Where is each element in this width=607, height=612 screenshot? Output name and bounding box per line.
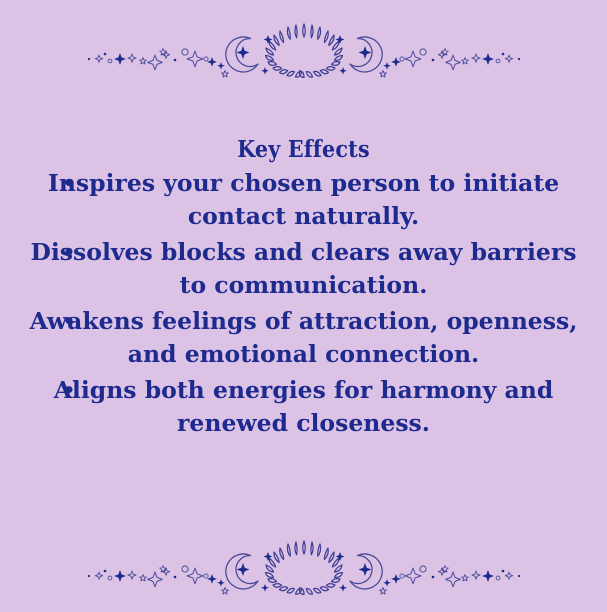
crescent-moon-icon-left — [226, 554, 258, 589]
four-point-sparkle — [383, 62, 391, 70]
four-point-sparkle — [405, 568, 421, 584]
four-point-sparkle — [114, 570, 126, 582]
circle-outline — [204, 574, 208, 578]
dot — [518, 575, 520, 577]
five-point-star — [140, 58, 147, 65]
four-point-sparkle — [237, 46, 250, 59]
list-item-label: Dissolves blocks and clears away barrier… — [24, 236, 583, 302]
five-point-star — [462, 58, 469, 65]
four-point-sparkle — [187, 51, 203, 67]
dot — [502, 570, 505, 573]
page-title: Key Effects — [0, 135, 607, 165]
circle-outline — [204, 57, 208, 61]
four-point-sparkle — [128, 54, 136, 62]
four-point-sparkle — [446, 572, 461, 587]
four-point-sparkle — [391, 574, 401, 584]
list-item-label: Aligns both energies for harmony and ren… — [24, 374, 583, 440]
circle-outline — [496, 576, 500, 580]
five-point-star — [462, 575, 469, 582]
list-item: • Aligns both energies for harmony and r… — [0, 374, 607, 440]
four-point-sparkle — [482, 53, 494, 65]
four-point-sparkle — [162, 51, 169, 58]
crescent-moon-icon-right — [350, 554, 382, 589]
poster-canvas: Key Effects • Inspires your chosen perso… — [0, 0, 607, 612]
four-point-sparkle — [446, 55, 461, 70]
list-item: • Dissolves blocks and clears away barri… — [0, 236, 607, 302]
bullet-glyph: • — [62, 305, 76, 338]
four-point-sparkle — [438, 51, 445, 58]
sun-icon — [266, 541, 343, 595]
four-point-sparkle — [359, 563, 372, 576]
four-point-sparkle — [207, 57, 217, 67]
dot — [104, 570, 107, 573]
five-point-star — [160, 566, 167, 573]
circle-outline — [182, 49, 188, 55]
celestial-divider-bottom — [88, 541, 520, 595]
dot — [88, 58, 90, 60]
four-point-sparkle — [217, 62, 225, 70]
four-point-sparkle — [261, 67, 269, 75]
ornament-top — [0, 10, 607, 90]
five-point-star — [222, 71, 229, 78]
crescent-moon-icon-right — [350, 37, 382, 72]
circle-outline — [108, 59, 112, 63]
four-point-sparkle — [391, 57, 401, 67]
dot — [432, 576, 435, 579]
four-point-sparkle — [339, 584, 347, 592]
four-point-sparkle — [405, 51, 421, 67]
five-point-star — [442, 566, 449, 573]
list-item: • Inspires your chosen person to initiat… — [0, 167, 607, 233]
circle-outline — [400, 57, 404, 61]
five-point-star — [140, 575, 147, 582]
crescent-moon-icon-left — [226, 37, 258, 72]
dot — [502, 53, 505, 56]
four-point-sparkle — [148, 55, 163, 70]
four-point-sparkle — [217, 579, 225, 587]
list-item-label: Awakens feelings of attraction, openness… — [24, 305, 583, 371]
four-point-sparkle — [505, 55, 512, 62]
sun-icon — [266, 24, 343, 78]
list-item: • Awakens feelings of attraction, openne… — [0, 305, 607, 371]
four-point-sparkle — [482, 570, 494, 582]
bullet-glyph: • — [62, 236, 76, 269]
four-point-sparkle — [95, 572, 102, 579]
four-point-sparkle — [237, 563, 250, 576]
dot — [174, 576, 177, 579]
circle-outline — [108, 576, 112, 580]
five-point-star — [442, 49, 449, 56]
circle-outline — [182, 566, 188, 572]
circle-outline — [400, 574, 404, 578]
circle-outline — [496, 59, 500, 63]
dot — [104, 53, 107, 56]
dot — [88, 575, 90, 577]
four-point-sparkle — [114, 53, 126, 65]
five-point-star — [222, 588, 229, 595]
circle-outline — [420, 566, 426, 572]
dot — [174, 59, 177, 62]
dot — [432, 59, 435, 62]
four-point-sparkle — [162, 568, 169, 575]
four-point-sparkle — [359, 46, 372, 59]
five-point-star — [160, 49, 167, 56]
list-item-label: Inspires your chosen person to initiate … — [24, 167, 583, 233]
four-point-sparkle — [128, 571, 136, 579]
four-point-sparkle — [148, 572, 163, 587]
dot — [518, 58, 520, 60]
key-effects-list: • Inspires your chosen person to initiat… — [0, 167, 607, 440]
four-point-sparkle — [472, 571, 480, 579]
four-point-sparkle — [472, 54, 480, 62]
four-point-sparkle — [438, 568, 445, 575]
five-point-star — [380, 71, 387, 78]
content-block: Key Effects • Inspires your chosen perso… — [0, 135, 607, 443]
circle-outline — [420, 49, 426, 55]
bullet-glyph: • — [62, 167, 76, 200]
bullet-glyph: • — [62, 374, 76, 407]
four-point-sparkle — [95, 55, 102, 62]
four-point-sparkle — [505, 572, 512, 579]
four-point-sparkle — [187, 568, 203, 584]
five-point-star — [380, 588, 387, 595]
four-point-sparkle — [383, 579, 391, 587]
ornament-bottom — [0, 527, 607, 607]
celestial-divider-top — [88, 24, 520, 78]
four-point-sparkle — [339, 67, 347, 75]
four-point-sparkle — [207, 574, 217, 584]
four-point-sparkle — [261, 584, 269, 592]
